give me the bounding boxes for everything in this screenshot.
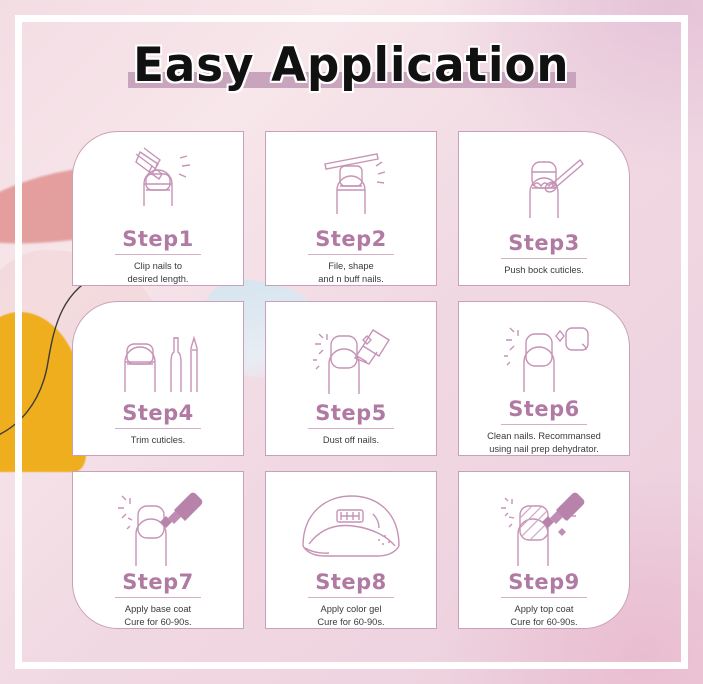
step-label: Step5 — [315, 402, 387, 424]
step-card-7[interactable]: Step7 Apply base coatCure for 60-90s. — [72, 471, 244, 629]
step-underline — [308, 254, 394, 255]
step-underline — [501, 597, 587, 598]
step-card-5[interactable]: Step5 Dust off nails. — [265, 301, 437, 456]
title-text: Easy Application — [133, 30, 569, 102]
page-title: Easy Application — [0, 30, 703, 102]
step-underline — [115, 254, 201, 255]
cuticle-pusher-icon — [459, 142, 629, 234]
step-card-4[interactable]: Step4 Trim cuticles. — [72, 301, 244, 456]
step-description: Push bock cuticles. — [497, 264, 591, 276]
easy-application-poster: Easy Application Step1 Clip n — [0, 0, 703, 684]
step-description: Apply top coatCure for 60-90s. — [503, 603, 584, 628]
step-card-2[interactable]: Step2 File, shapeand n buff nails. — [265, 131, 437, 286]
step-underline — [308, 428, 394, 429]
step-label: Step1 — [122, 228, 194, 250]
step-card-3[interactable]: Step3 Push bock cuticles. — [458, 131, 630, 286]
step-underline — [115, 428, 201, 429]
step-description: File, shapeand n buff nails. — [311, 260, 390, 285]
steps-grid: Step1 Clip nails todesired length. Step2… — [72, 131, 630, 629]
cleaning-wipe-icon — [459, 312, 629, 400]
nail-clipper-icon — [73, 142, 243, 230]
step-card-1[interactable]: Step1 Clip nails todesired length. — [72, 131, 244, 286]
step-underline — [115, 597, 201, 598]
step-label: Step8 — [315, 571, 387, 593]
step-card-9[interactable]: Step9 Apply top coatCure for 60-90s. — [458, 471, 630, 629]
cuticle-trimmer-icon — [73, 312, 243, 404]
step-card-8[interactable]: Step8 Apply color gelCure for 60-90s. — [265, 471, 437, 629]
step-label: Step4 — [122, 402, 194, 424]
step-underline — [501, 258, 587, 259]
step-description: Clip nails todesired length. — [121, 260, 196, 285]
step-description: Dust off nails. — [316, 434, 386, 446]
step-card-6[interactable]: Step6 Clean nails. Recommansedusing nail… — [458, 301, 630, 456]
nail-file-icon — [266, 142, 436, 230]
step-description: Clean nails. Recommansedusing nail prep … — [480, 430, 608, 455]
uv-lamp-icon — [266, 482, 436, 573]
step-label: Step3 — [508, 232, 580, 254]
polish-brush-icon — [73, 482, 243, 573]
step-description: Trim cuticles. — [124, 434, 192, 446]
step-description: Apply color gelCure for 60-90s. — [310, 603, 391, 628]
top-coat-brush-icon — [459, 482, 629, 573]
step-label: Step6 — [508, 398, 580, 420]
step-underline — [501, 424, 587, 425]
step-underline — [308, 597, 394, 598]
dust-brush-icon — [266, 312, 436, 404]
step-label: Step7 — [122, 571, 194, 593]
step-label: Step9 — [508, 571, 580, 593]
step-label: Step2 — [315, 228, 387, 250]
step-description: Apply base coatCure for 60-90s. — [117, 603, 198, 628]
